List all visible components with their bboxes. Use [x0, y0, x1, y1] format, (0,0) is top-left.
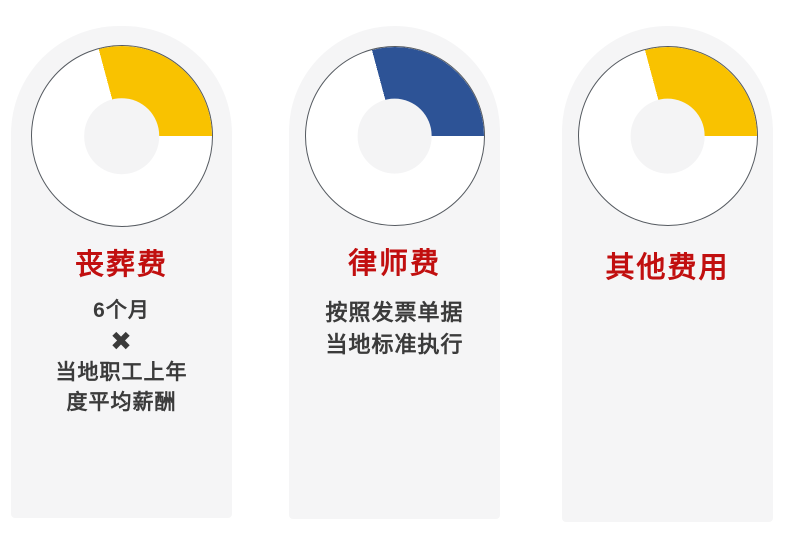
- card-title-other-expenses: 其他费用: [605, 252, 729, 285]
- donut-chart-funeral-expenses: [31, 45, 213, 227]
- body-line-invoice: 按照发票单据: [325, 297, 463, 328]
- card-body-lawyer-fees: 按照发票单据 当地标准执行: [325, 297, 463, 359]
- donut-ring: [578, 46, 758, 226]
- card-title-funeral-expenses: 丧葬费: [75, 249, 168, 282]
- donut-hole: [84, 98, 160, 174]
- body-line-basis-1: 当地职工上年: [56, 358, 188, 388]
- donut-ring: [305, 46, 485, 226]
- card-lawyer-fees[interactable]: 律师费 按照发票单据 当地标准执行: [289, 26, 500, 519]
- card-other-expenses[interactable]: 其他费用: [562, 26, 773, 522]
- body-line-months: 6个月: [56, 296, 188, 326]
- card-funeral-expenses[interactable]: 丧葬费 6个月 ✖ 当地职工上年 度平均薪酬: [11, 26, 232, 518]
- donut-chart-lawyer-fees: [305, 46, 485, 226]
- donut-chart-other-expenses: [578, 46, 758, 226]
- multiply-icon: ✖: [56, 327, 188, 356]
- donut-hole: [630, 99, 705, 174]
- donut-ring: [31, 45, 213, 227]
- body-line-basis-2: 度平均薪酬: [56, 388, 188, 418]
- donut-hole: [357, 99, 432, 174]
- body-line-local-standard: 当地标准执行: [325, 329, 463, 360]
- infographic-board: 丧葬费 6个月 ✖ 当地职工上年 度平均薪酬 律师费 按照发票单据 当地标准执行: [0, 0, 807, 540]
- card-title-lawyer-fees: 律师费: [348, 248, 441, 281]
- card-body-funeral-expenses: 6个月 ✖ 当地职工上年 度平均薪酬: [56, 296, 188, 417]
